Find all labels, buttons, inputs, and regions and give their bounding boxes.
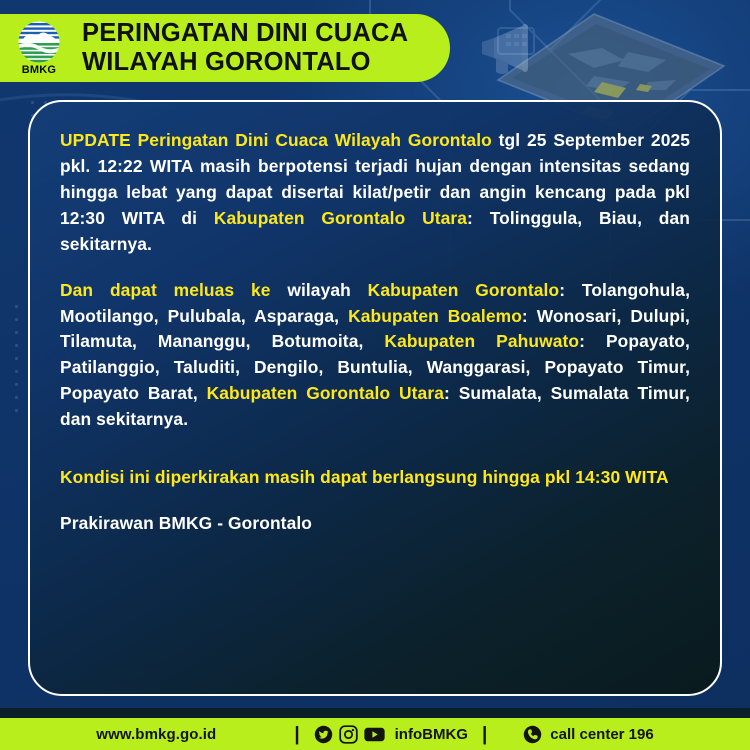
paragraph-primary-warning: UPDATE Peringatan Dini Cuaca Wilayah Gor…	[60, 128, 690, 258]
bmkg-emblem-icon	[17, 20, 61, 64]
header-banner: BMKG PERINGATAN DINI CUACA WILAYAH GORON…	[0, 14, 450, 82]
p2-region-boalemo: Kabupaten Boalemo	[348, 306, 522, 326]
p2-region-gorontalo-utara: Kabupaten Gorontalo Utara	[207, 383, 444, 403]
p2-region-gorontalo: Kabupaten Gorontalo	[368, 280, 560, 300]
bmkg-logo-label: BMKG	[22, 65, 56, 76]
footer-divider-right: |	[482, 725, 487, 744]
paragraph-expansion-warning: Dan dapat meluas ke wilayah Kabupaten Go…	[60, 278, 690, 434]
call-center-info: call center 196	[523, 725, 653, 744]
footer-bar: www.bmkg.go.id | infoBMKG |	[0, 718, 750, 750]
footer-divider-left: |	[294, 725, 299, 744]
p1-region: Kabupaten Gorontalo Utara	[214, 208, 467, 228]
duration-text: Kondisi ini diperkirakan masih dapat ber…	[60, 467, 669, 487]
social-links: infoBMKG	[314, 725, 468, 744]
call-center-label: call center 196	[550, 726, 653, 743]
youtube-icon[interactable]	[364, 725, 385, 744]
paragraph-duration: Kondisi ini diperkirakan masih dapat ber…	[60, 465, 690, 491]
footer-dark-strip	[0, 708, 750, 718]
p2-lead: Dan dapat meluas ke	[60, 280, 271, 300]
website-link[interactable]: www.bmkg.go.id	[96, 726, 216, 743]
page-title: PERINGATAN DINI CUACA WILAYAH GORONTALO	[82, 19, 408, 77]
paragraph-signature: Prakirawan BMKG - Gorontalo	[60, 511, 690, 537]
social-handle: infoBMKG	[395, 726, 468, 743]
p2-region-pahuwato: Kabupaten Pahuwato	[384, 331, 579, 351]
instagram-icon[interactable]	[339, 725, 358, 744]
title-line-1: PERINGATAN DINI CUACA	[82, 19, 408, 47]
title-line-2: WILAYAH GORONTALO	[82, 48, 408, 77]
bmkg-logo: BMKG	[8, 20, 70, 76]
p1-headline: UPDATE Peringatan Dini Cuaca Wilayah Gor…	[60, 130, 492, 150]
phone-icon	[523, 725, 542, 744]
megaphone-icon	[472, 18, 552, 88]
twitter-icon[interactable]	[314, 725, 333, 744]
warning-card: UPDATE Peringatan Dini Cuaca Wilayah Gor…	[28, 100, 722, 696]
weather-warning-poster: BMKG PERINGATAN DINI CUACA WILAYAH GORON…	[0, 0, 750, 750]
p2-text-1: wilayah	[271, 280, 368, 300]
